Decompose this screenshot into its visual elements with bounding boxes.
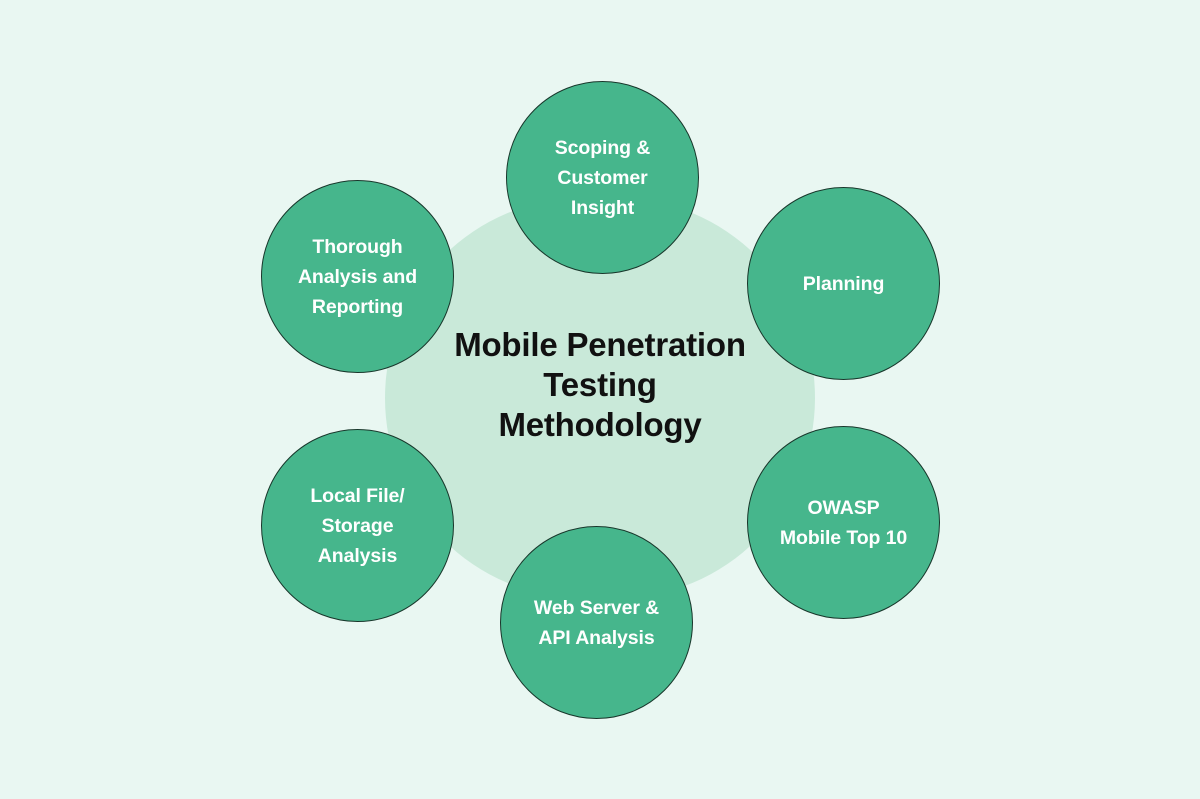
node-scoping-customer-insight[interactable]: Scoping & Customer Insight: [506, 81, 699, 274]
node-local-file-storage-analysis[interactable]: Local File/ Storage Analysis: [261, 429, 454, 622]
node-label: Thorough Analysis and Reporting: [288, 232, 427, 322]
node-label: Planning: [793, 269, 895, 299]
node-label: Local File/ Storage Analysis: [300, 481, 414, 571]
diagram-canvas: Mobile Penetration Testing Methodology S…: [0, 0, 1200, 799]
page-title: Mobile Penetration Testing Methodology: [380, 325, 820, 445]
node-label: OWASP Mobile Top 10: [770, 493, 917, 553]
node-label: Web Server & API Analysis: [524, 593, 669, 653]
node-web-server-api-analysis[interactable]: Web Server & API Analysis: [500, 526, 693, 719]
node-planning[interactable]: Planning: [747, 187, 940, 380]
node-thorough-analysis-and-reporting[interactable]: Thorough Analysis and Reporting: [261, 180, 454, 373]
node-label: Scoping & Customer Insight: [545, 133, 661, 223]
node-owasp-mobile-top-10[interactable]: OWASP Mobile Top 10: [747, 426, 940, 619]
